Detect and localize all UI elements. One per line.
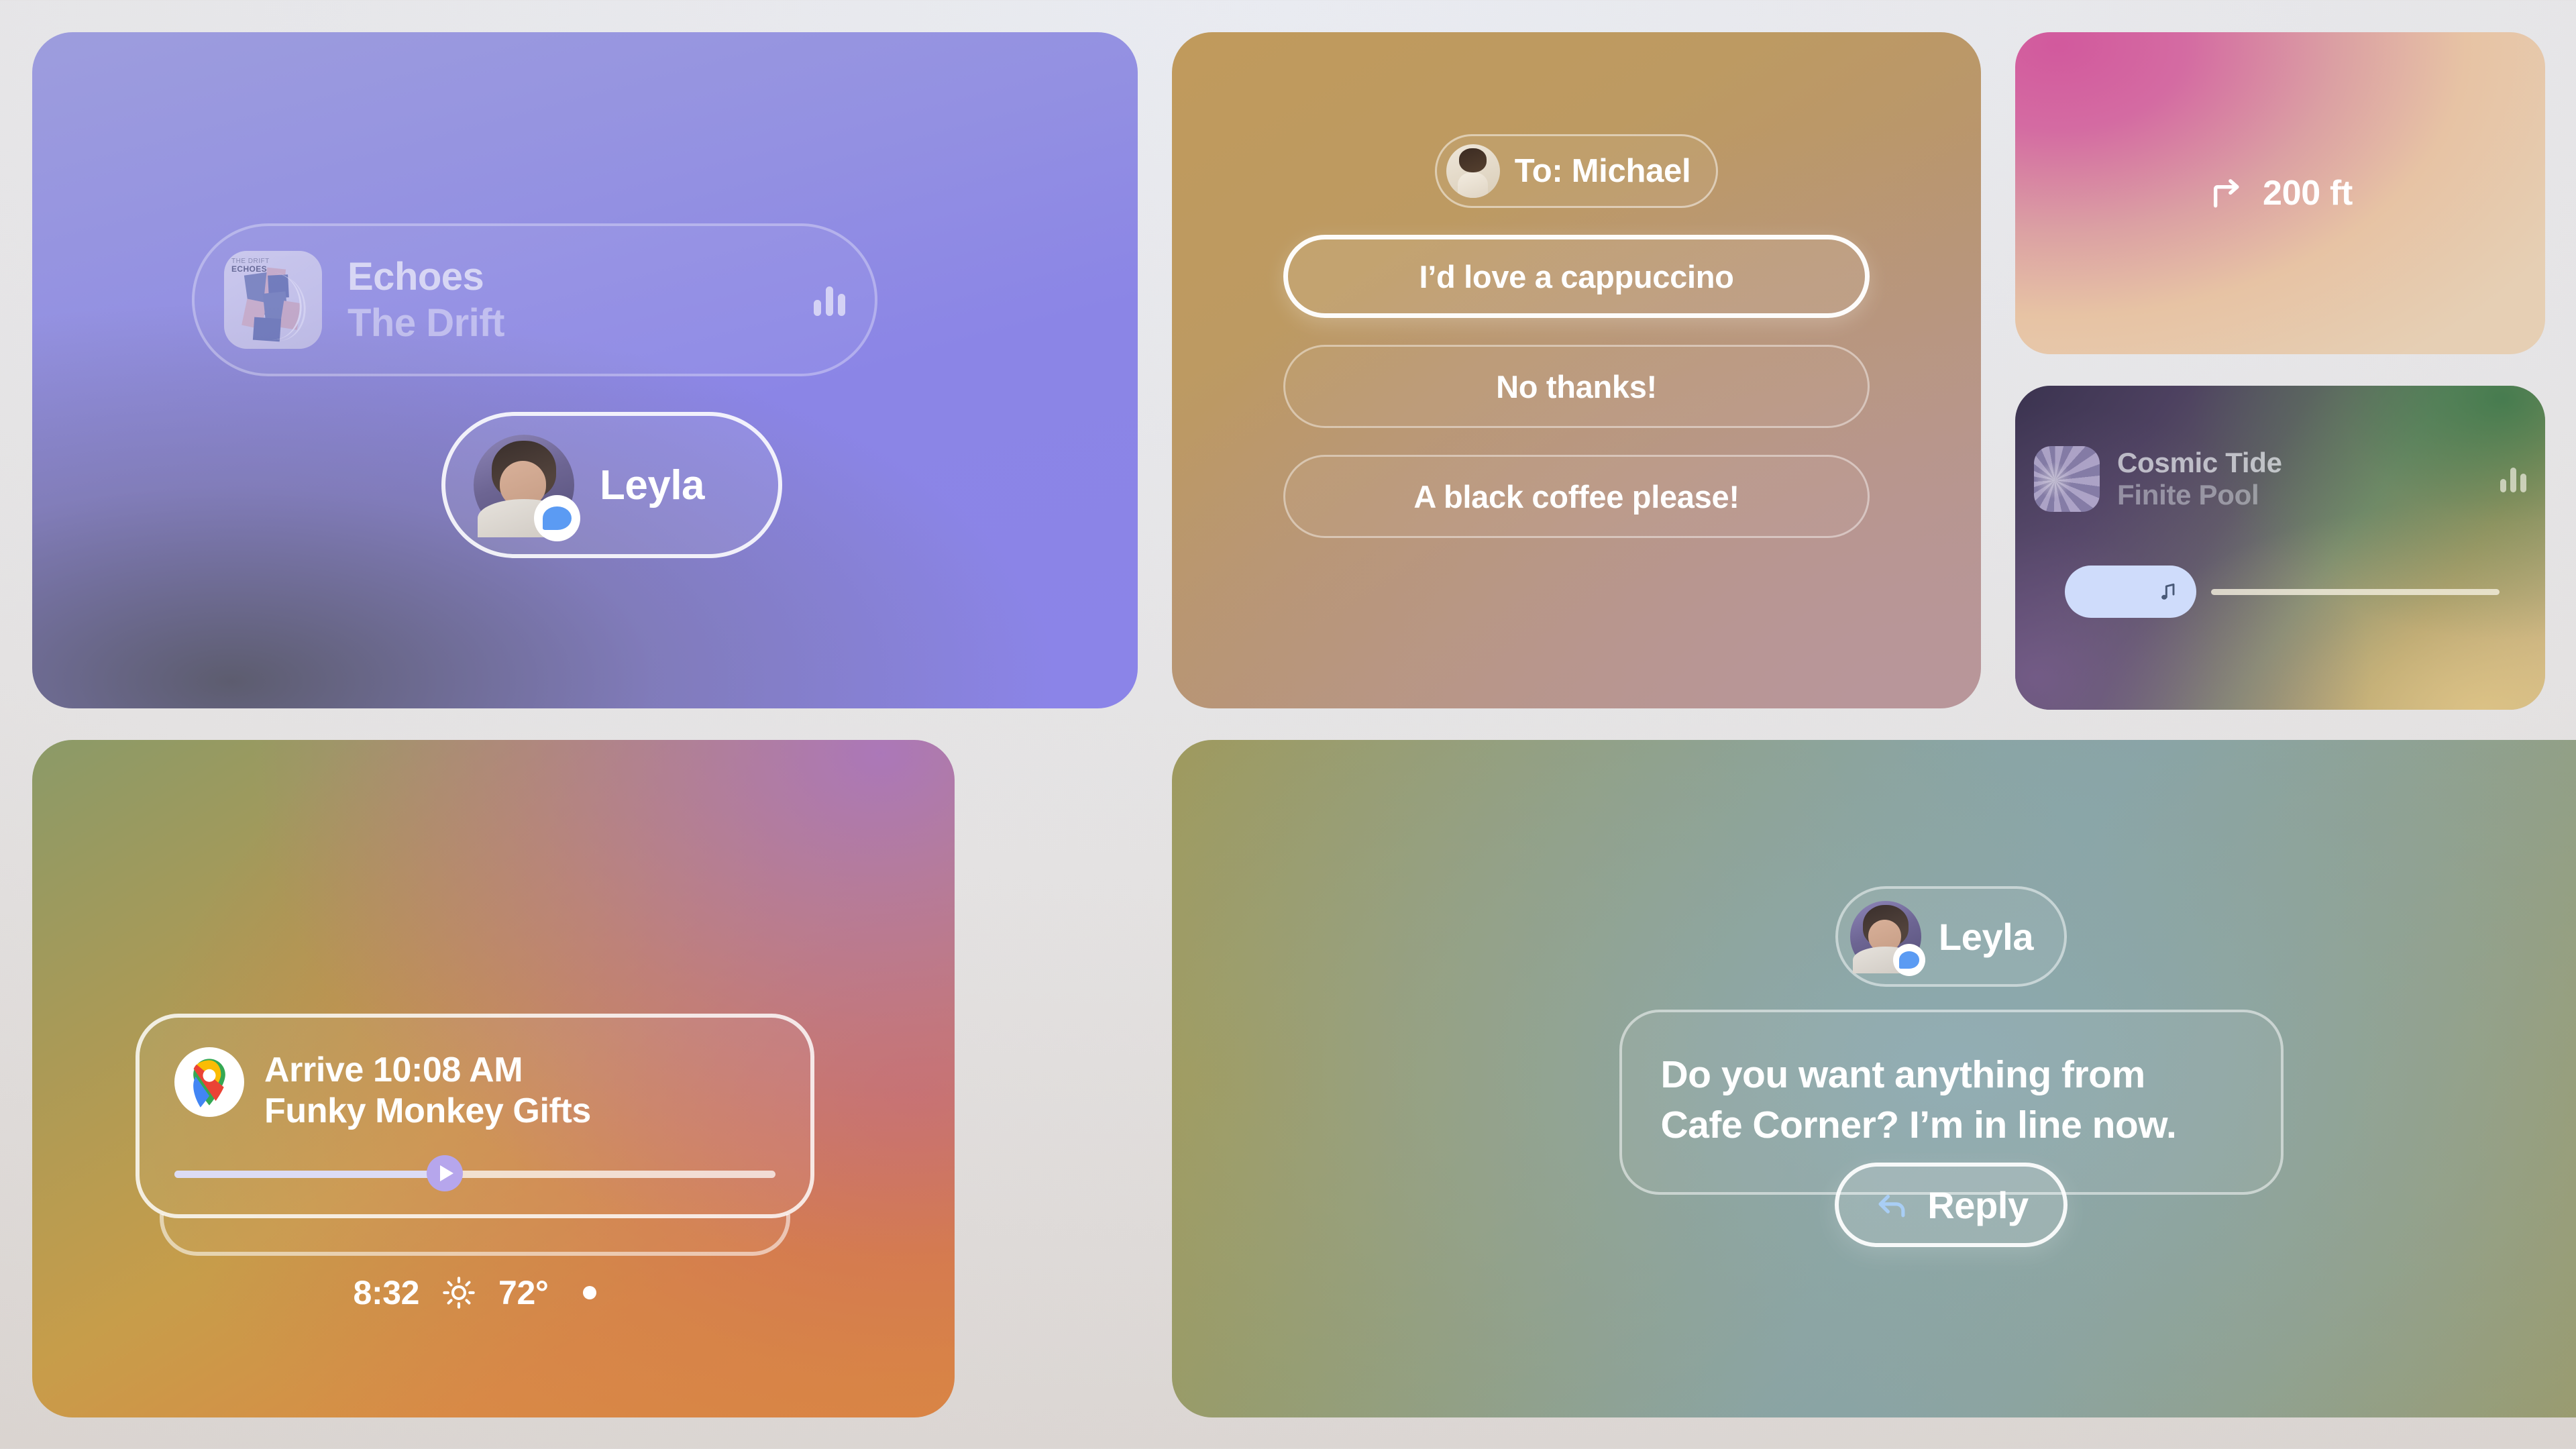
card-incoming-message[interactable]: Leyla Do you want anything from Cafe Cor… <box>1172 740 2576 1417</box>
music-note-icon <box>2157 578 2179 605</box>
track-artist: Finite Pool <box>2117 479 2282 511</box>
album-art-swoosh <box>246 272 309 343</box>
recipient-label: To: Michael <box>1515 152 1691 190</box>
recipient-chip[interactable]: To: Michael <box>1435 134 1719 208</box>
mini-now-playing-row[interactable]: Cosmic Tide Finite Pool <box>2015 446 2545 512</box>
arrival-destination: Funky Monkey Gifts <box>264 1091 591 1132</box>
reply-option-2[interactable]: No thanks! <box>1283 345 1870 428</box>
right-column-stack: 200 ft Cosmic Tide Finite Pool <box>2015 32 2545 708</box>
google-messages-icon <box>1893 944 1926 977</box>
equalizer-bars-icon <box>814 284 845 316</box>
equalizer-bars-icon <box>2500 466 2526 492</box>
status-time: 8:32 <box>354 1273 419 1312</box>
arrival-panel[interactable]: Arrive 10:08 AM Funky Monkey Gifts <box>136 1014 814 1218</box>
message-body-line: Cafe Corner? I’m in line now. <box>1661 1100 2242 1150</box>
reply-button-label: Reply <box>1927 1183 2029 1227</box>
progress-fill <box>174 1171 445 1178</box>
card-now-playing-mini[interactable]: Cosmic Tide Finite Pool <box>2015 386 2545 710</box>
avatar-leyla <box>1850 901 1921 972</box>
play-arrow-icon[interactable] <box>427 1155 463 1191</box>
navigation-content: 200 ft <box>2015 32 2545 354</box>
dot-indicator-icon <box>583 1286 596 1299</box>
play-triangle <box>440 1165 453 1181</box>
message-content: Leyla Do you want anything from Cafe Cor… <box>1172 740 2576 1417</box>
card-smart-replies[interactable]: To: Michael I’d love a cappuccino No tha… <box>1172 32 1981 708</box>
card-navigation[interactable]: 200 ft <box>2015 32 2545 354</box>
reply-button[interactable]: Reply <box>1835 1163 2068 1247</box>
avatar-leyla <box>474 435 574 535</box>
now-playing-pill[interactable]: THE DRIFT ECHOES Echoes The Drift <box>192 223 877 376</box>
message-sender-chip[interactable]: Leyla <box>1835 886 2067 987</box>
equalizer-bar <box>2510 468 2516 492</box>
navigation-distance: 200 ft <box>2263 173 2353 213</box>
google-maps-pin-icon <box>174 1047 244 1117</box>
speech-bubble-shape <box>1899 951 1919 968</box>
mini-progress-track[interactable] <box>2211 589 2500 595</box>
now-playing-text: Echoes The Drift <box>347 254 504 345</box>
track-title: Echoes <box>347 254 504 299</box>
avatar-michael <box>1446 144 1500 198</box>
equalizer-bar <box>838 294 845 316</box>
sun-icon <box>442 1276 476 1309</box>
equalizer-bar <box>2520 474 2526 492</box>
contact-name: Leyla <box>600 462 704 509</box>
route-progress-slider[interactable] <box>174 1155 775 1191</box>
mini-track-text: Cosmic Tide Finite Pool <box>2117 447 2282 511</box>
message-sender-name: Leyla <box>1939 915 2033 959</box>
reply-arrow-icon <box>1874 1187 1910 1223</box>
card-now-playing[interactable]: THE DRIFT ECHOES Echoes The Drift <box>32 32 1138 708</box>
card-arrival[interactable]: Arrive 10:08 AM Funky Monkey Gifts 8:32 <box>32 740 955 1417</box>
cards-board: THE DRIFT ECHOES Echoes The Drift <box>32 32 2544 1417</box>
equalizer-bar <box>814 300 821 316</box>
arrival-text: Arrive 10:08 AM Funky Monkey Gifts <box>264 1047 591 1132</box>
reply-option-1[interactable]: I’d love a cappuccino <box>1283 235 1870 318</box>
album-art-thumbnail: THE DRIFT ECHOES <box>224 251 322 349</box>
reply-option-3[interactable]: A black coffee please! <box>1283 455 1870 538</box>
status-row: 8:32 72° <box>136 1273 814 1312</box>
turn-right-icon <box>2208 174 2245 212</box>
album-art-thumbnail <box>2034 446 2100 512</box>
music-note-pill[interactable] <box>2065 566 2196 618</box>
mini-progress-row[interactable] <box>2015 566 2545 618</box>
track-title: Cosmic Tide <box>2117 447 2282 479</box>
arrival-header: Arrive 10:08 AM Funky Monkey Gifts <box>174 1047 775 1132</box>
speech-bubble-shape <box>543 506 572 531</box>
reply-option-label: A black coffee please! <box>1413 478 1739 515</box>
reply-option-label: I’d love a cappuccino <box>1419 258 1733 295</box>
contact-chip-leyla[interactable]: Leyla <box>441 412 782 558</box>
equalizer-bar <box>826 286 833 316</box>
track-artist: The Drift <box>347 301 504 345</box>
smart-replies-content: To: Michael I’d love a cappuccino No tha… <box>1172 32 1981 708</box>
google-messages-icon <box>534 495 580 541</box>
status-temperature: 72° <box>498 1273 548 1312</box>
equalizer-bar <box>2500 479 2506 492</box>
arrival-eta: Arrive 10:08 AM <box>264 1050 591 1091</box>
reply-option-label: No thanks! <box>1496 368 1657 405</box>
message-body-line: Do you want anything from <box>1661 1050 2242 1100</box>
